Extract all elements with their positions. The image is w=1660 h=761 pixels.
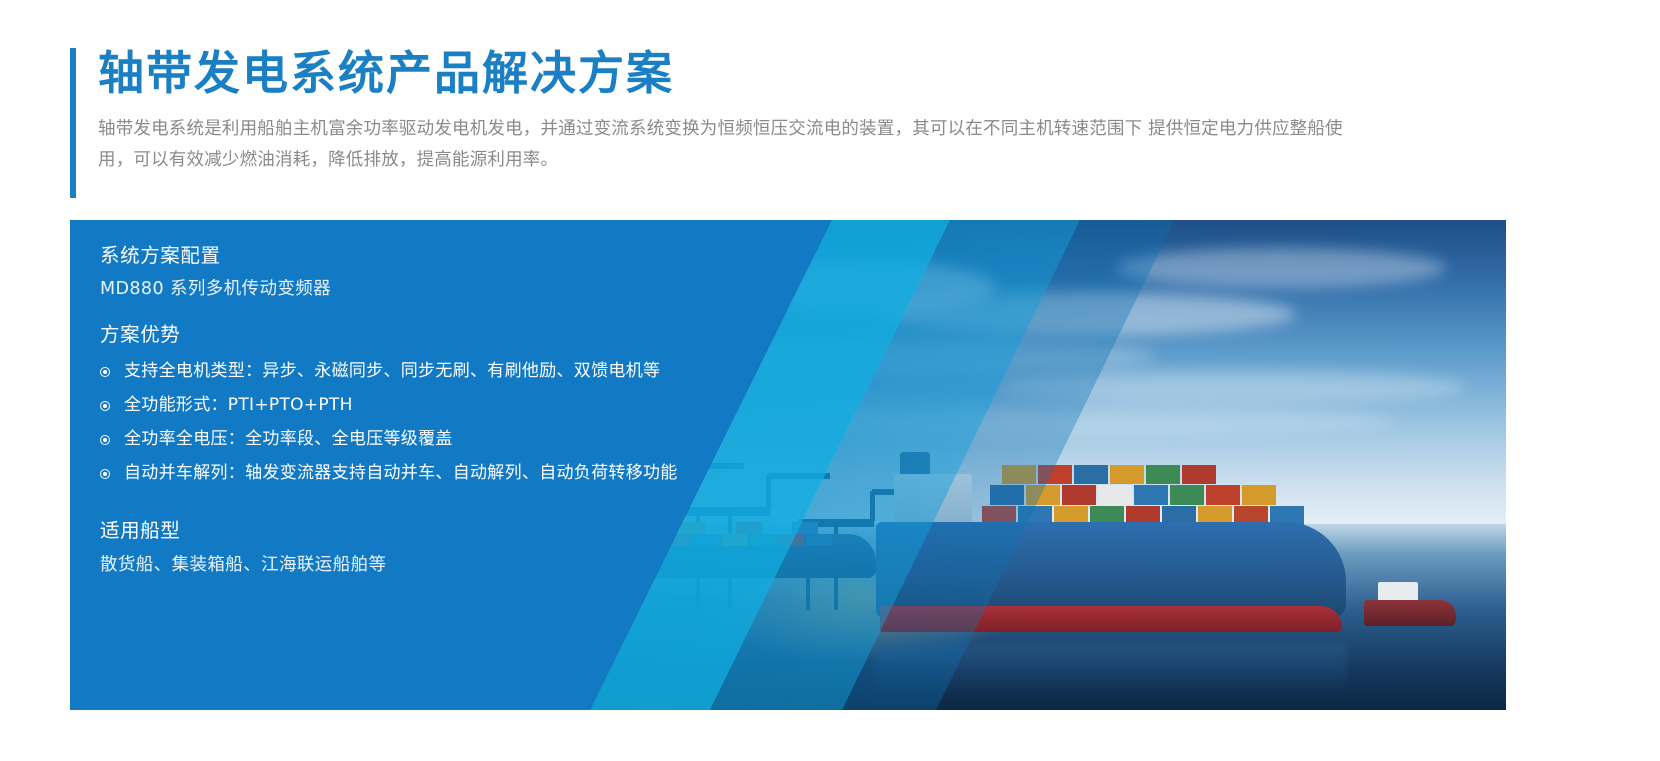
page-description-line-1: 轴带发电系统是利用船舶主机富余功率驱动发电机发电，并通过变流系统变换为恒频恒压交… <box>98 119 1142 139</box>
advantages-group: 方案优势 支持全电机类型：异步、永磁同步、同步无刷、有刷他励、双馈电机等 全功能… <box>100 325 678 484</box>
bullet-dot-icon <box>100 435 110 445</box>
list-item-label: 全功能形式：PTI+PTO+PTH <box>124 395 353 415</box>
ship-types-group: 适用船型 散货船、集装箱船、江海联运船舶等 <box>100 521 386 574</box>
list-item: 支持全电机类型：异步、永磁同步、同步无刷、有刷他励、双馈电机等 <box>100 361 678 382</box>
solution-page: 轴带发电系统产品解决方案 轴带发电系统是利用船舶主机富余功率驱动发电机发电，并通… <box>0 0 1660 761</box>
page-title: 轴带发电系统产品解决方案 <box>98 48 1520 100</box>
list-item: 全功能形式：PTI+PTO+PTH <box>100 395 678 416</box>
panel-content: 系统方案配置 MD880 系列多机传动变频器 方案优势 支持全电机类型：异步、永… <box>100 220 880 710</box>
advantages-list: 支持全电机类型：异步、永磁同步、同步无刷、有刷他励、双馈电机等 全功能形式：PT… <box>100 361 678 484</box>
advantages-heading: 方案优势 <box>100 325 678 345</box>
bullet-dot-icon <box>100 469 110 479</box>
bullet-dot-icon <box>100 401 110 411</box>
list-item-label: 全功率全电压：全功率段、全电压等级覆盖 <box>124 429 453 449</box>
solution-panel: 系统方案配置 MD880 系列多机传动变频器 方案优势 支持全电机类型：异步、永… <box>70 220 1506 710</box>
system-config-group: 系统方案配置 MD880 系列多机传动变频器 <box>100 246 331 298</box>
page-header: 轴带发电系统产品解决方案 轴带发电系统是利用船舶主机富余功率驱动发电机发电，并通… <box>70 48 1520 176</box>
system-config-product: MD880 系列多机传动变频器 <box>100 281 331 299</box>
bullet-dot-icon <box>100 367 110 377</box>
list-item-label: 自动并车解列：轴发变流器支持自动并车、自动解列、自动负荷转移功能 <box>124 463 678 483</box>
ship-types-heading: 适用船型 <box>100 521 386 541</box>
tugboat-hull <box>1364 600 1456 626</box>
header-accent-bar <box>70 48 76 198</box>
tugboat <box>1364 582 1460 634</box>
list-item-label: 支持全电机类型：异步、永磁同步、同步无刷、有刷他励、双馈电机等 <box>124 361 660 381</box>
list-item: 全功率全电压：全功率段、全电压等级覆盖 <box>100 429 678 450</box>
ship-types-value: 散货船、集装箱船、江海联运船舶等 <box>100 557 386 575</box>
page-description: 轴带发电系统是利用船舶主机富余功率驱动发电机发电，并通过变流系统变换为恒频恒压交… <box>98 114 1366 176</box>
cloud-shape <box>1116 248 1446 288</box>
list-item: 自动并车解列：轴发变流器支持自动并车、自动解列、自动负荷转移功能 <box>100 463 678 484</box>
system-config-heading: 系统方案配置 <box>100 246 331 266</box>
